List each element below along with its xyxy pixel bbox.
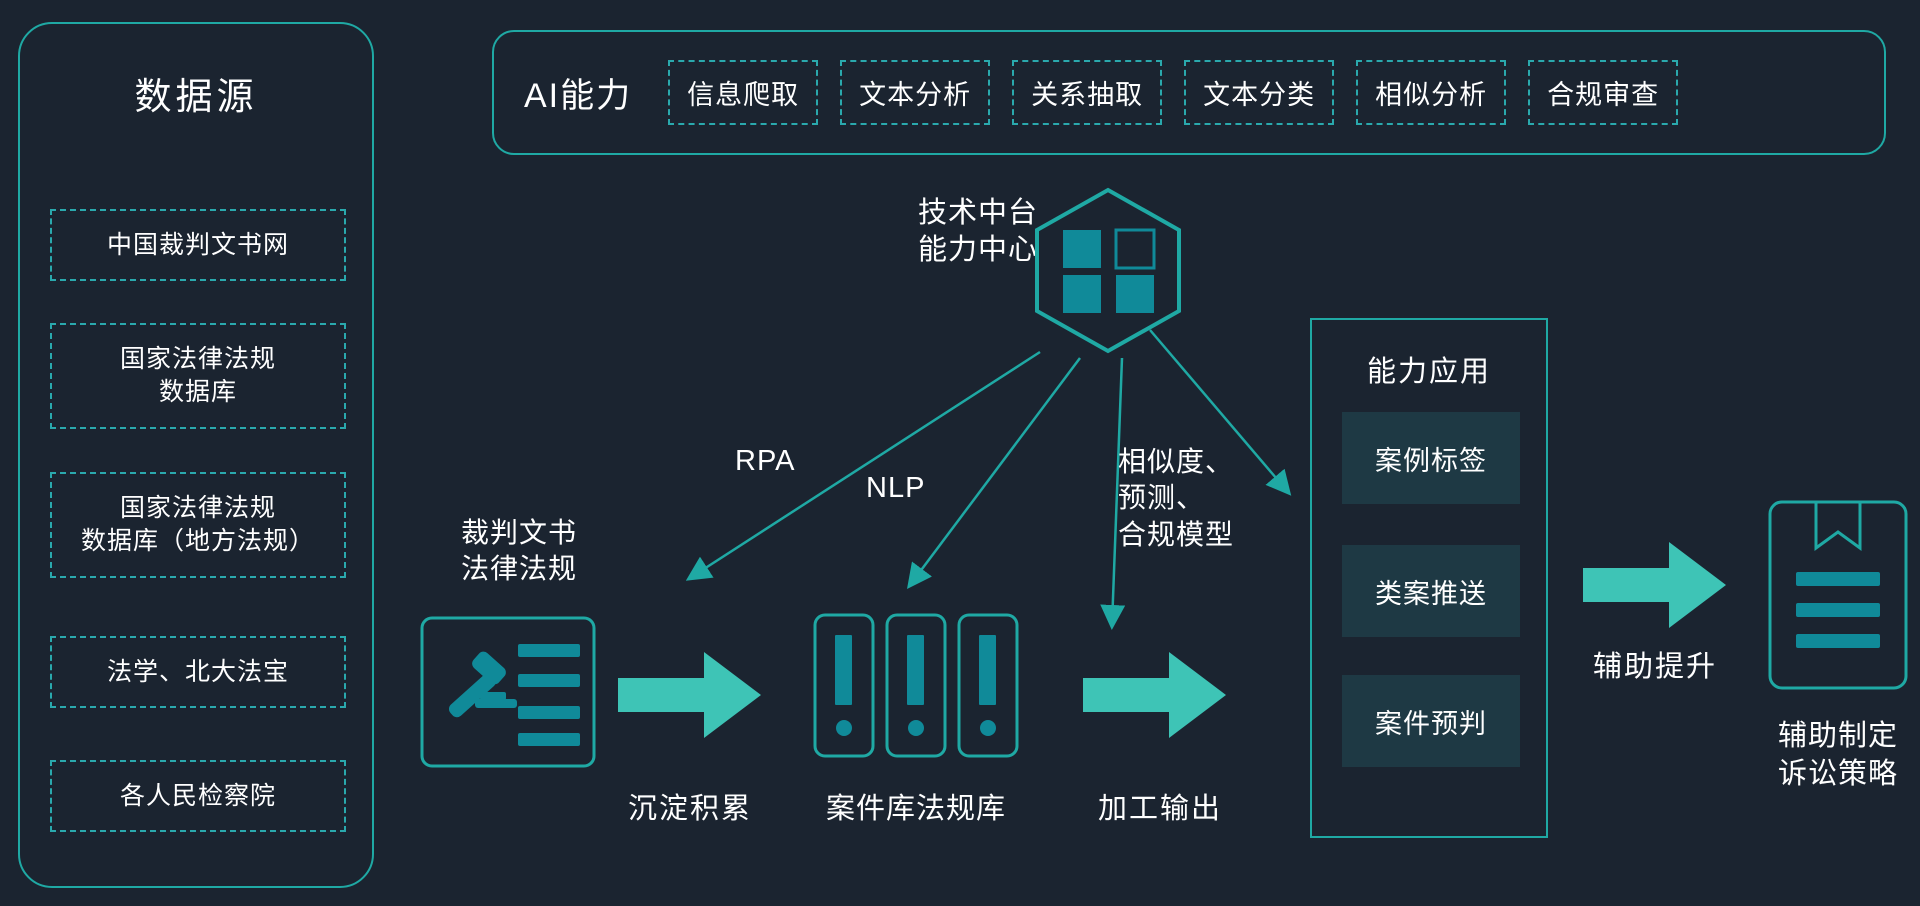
ai-chip-3[interactable]: 文本分类 xyxy=(1184,60,1334,125)
ai-capability-bar: AI能力 信息爬取 文本分析 关系抽取 文本分类 相似分析 合规审查 xyxy=(492,30,1886,155)
datasource-item-label: 国家法律法规数据库（地方法规） xyxy=(81,492,315,558)
diagram-canvas: 数据源 中国裁判文书网 国家法律法规数据库 国家法律法规数据库（地方法规） 法学… xyxy=(0,0,1920,906)
ai-chip-2[interactable]: 关系抽取 xyxy=(1012,60,1162,125)
ai-capability-title: AI能力 xyxy=(524,68,632,117)
hub-label: 技术中台能力中心 xyxy=(838,195,1038,269)
ai-chip-1[interactable]: 文本分析 xyxy=(840,60,990,125)
datasource-item-label: 各人民检察院 xyxy=(120,780,276,813)
datasource-item-4[interactable]: 各人民检察院 xyxy=(50,760,346,832)
edge-label-model: 相似度、预测、合规模型 xyxy=(1118,444,1234,553)
stage1-sub-caption: 沉淀积累 xyxy=(600,785,780,827)
bookmark-document-icon xyxy=(1768,500,1908,690)
edge-label-nlp: NLP xyxy=(866,470,925,508)
stage3-sub-caption: 加工输出 xyxy=(1080,785,1240,827)
server-rack-icon xyxy=(813,613,1019,758)
capability-card-0[interactable]: 案例标签 xyxy=(1342,412,1520,504)
datasource-item-0[interactable]: 中国裁判文书网 xyxy=(50,209,346,281)
datasource-panel: 数据源 中国裁判文书网 国家法律法规数据库 国家法律法规数据库（地方法规） 法学… xyxy=(18,22,374,888)
right-arrow-icon-2 xyxy=(1083,650,1227,740)
datasource-item-3[interactable]: 法学、北大法宝 xyxy=(50,636,346,708)
ai-chip-5[interactable]: 合规审查 xyxy=(1528,60,1678,125)
hexagon-grid-icon xyxy=(1028,185,1188,355)
stage1-caption: 裁判文书法律法规 xyxy=(424,515,614,588)
datasource-item-2[interactable]: 国家法律法规数据库（地方法规） xyxy=(50,472,346,578)
final-caption: 辅助制定诉讼策略 xyxy=(1738,718,1920,793)
gavel-document-icon xyxy=(420,616,596,768)
ai-chip-0[interactable]: 信息爬取 xyxy=(668,60,818,125)
capability-card-1[interactable]: 类案推送 xyxy=(1342,545,1520,637)
capability-panel: 能力应用 案例标签 类案推送 案件预判 xyxy=(1310,318,1548,838)
capability-card-2[interactable]: 案件预判 xyxy=(1342,675,1520,767)
datasource-item-label: 国家法律法规数据库 xyxy=(120,343,276,409)
datasource-item-label: 法学、北大法宝 xyxy=(107,656,289,689)
right-arrow-icon-3 xyxy=(1583,540,1727,630)
right-arrow-icon-1 xyxy=(618,650,762,740)
datasource-item-1[interactable]: 国家法律法规数据库 xyxy=(50,323,346,429)
edge-label-rpa: RPA xyxy=(735,443,795,481)
final-sub-caption: 辅助提升 xyxy=(1560,643,1750,685)
datasource-title: 数据源 xyxy=(20,66,372,120)
stage2-sub-caption: 案件库法规库 xyxy=(808,785,1024,827)
datasource-item-label: 中国裁判文书网 xyxy=(107,229,289,262)
ai-chip-4[interactable]: 相似分析 xyxy=(1356,60,1506,125)
capability-title: 能力应用 xyxy=(1312,348,1546,390)
